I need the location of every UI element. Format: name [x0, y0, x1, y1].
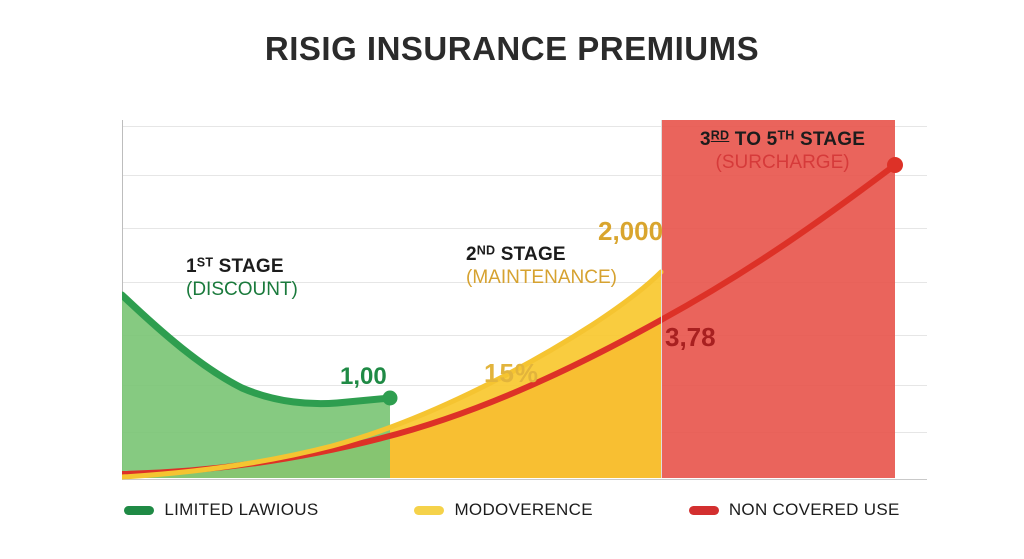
chart-legend: LIMITED LAWIOUS MODOVERENCE NON COVERED …	[0, 500, 1024, 520]
legend-swatch-icon	[414, 506, 444, 515]
legend-item-non-covered-use[interactable]: NON COVERED USE	[689, 500, 900, 520]
chart-title: RISIG INSURANCE PREMIUMS	[0, 30, 1024, 68]
legend-swatch-icon	[124, 506, 154, 515]
annotation-stage-1: 1ST STAGE (DISCOUNT)	[186, 255, 298, 301]
data-label-red-boundary: 3,78	[665, 322, 716, 353]
series-endpoint-non-covered-use	[887, 157, 903, 173]
annotation-stage-3-title: 3RD TO 5TH STAGE	[700, 128, 865, 151]
legend-swatch-icon	[689, 506, 719, 515]
legend-label: NON COVERED USE	[729, 500, 900, 520]
annotation-stage-3: 3RD TO 5TH STAGE (SURCHARGE)	[700, 128, 865, 174]
chart-root: RISIG INSURANCE PREMIUMS PRONUIERID LEVE…	[0, 0, 1024, 559]
annotation-stage-1-sub: (DISCOUNT)	[186, 278, 298, 301]
annotation-stage-2: 2ND STAGE (MAINTENANCE)	[466, 243, 617, 289]
data-label-yellow-peak: 2,000	[598, 216, 663, 247]
data-label-green-end: 1,00	[340, 363, 387, 391]
legend-label: MODOVERENCE	[454, 500, 592, 520]
annotation-stage-2-sub: (MAINTENANCE)	[466, 266, 617, 289]
data-label-yellow-mid: 15%	[484, 358, 539, 389]
legend-item-limited-lawious[interactable]: LIMITED LAWIOUS	[124, 500, 318, 520]
band-divider-surcharge	[661, 120, 662, 478]
legend-item-modoverence[interactable]: MODOVERENCE	[414, 500, 592, 520]
legend-label: LIMITED LAWIOUS	[164, 500, 318, 520]
annotation-stage-3-sub: (SURCHARGE)	[700, 151, 865, 174]
annotation-stage-2-title: 2ND STAGE	[466, 243, 617, 266]
annotation-stage-1-title: 1ST STAGE	[186, 255, 298, 278]
series-endpoint-limited-lawious	[383, 391, 398, 406]
